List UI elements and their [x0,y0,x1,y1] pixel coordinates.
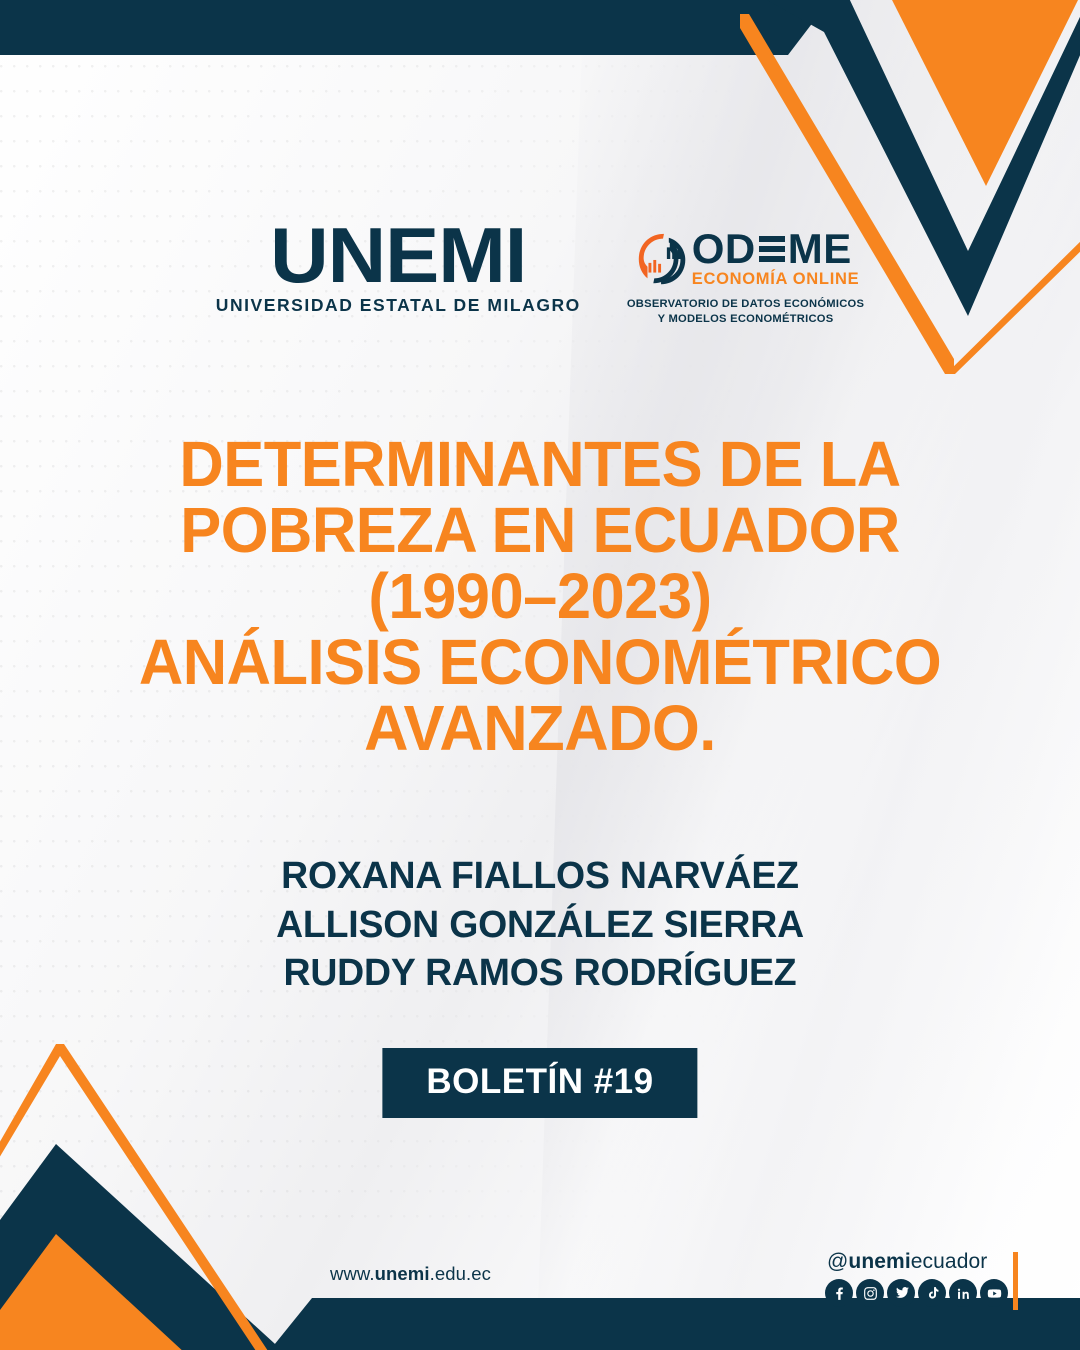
social-orange-rule [1013,1252,1018,1310]
instagram-icon[interactable] [856,1279,884,1307]
social-block: @unemiecuador [825,1251,1008,1307]
odeme-description: OBSERVATORIO DE DATOS ECONÓMICOS Y MODEL… [627,297,864,327]
odeme-circle-mark-icon [632,228,694,290]
social-handle: @unemiecuador [825,1251,987,1272]
facebook-icon[interactable] [825,1279,853,1307]
odeme-description-line2: Y MODELOS ECONOMÉTRICOS [627,312,864,327]
odeme-wordmark-block: O D ME ECONOMÍA ONLINE [692,229,860,289]
odeme-lockup: O D ME ECONOMÍA ONLINE [632,228,860,290]
tiktok-icon[interactable] [918,1279,946,1307]
odeme-wordmark-part3: ME [788,229,852,269]
odeme-tagline: ECONOMÍA ONLINE [692,270,860,289]
website-suffix: .edu.ec [430,1263,491,1284]
title-line-1: DETERMINANTES DE LA [79,432,1001,498]
odeme-description-line1: OBSERVATORIO DE DATOS ECONÓMICOS [627,297,864,312]
title-line-5: AVANZADO. [79,696,1001,762]
poster-canvas: UNEMI UNIVERSIDAD ESTATAL DE MILAGRO [0,0,1080,1350]
title-line-4: ANÁLISIS ECONOMÉTRICO [79,630,1001,696]
youtube-icon[interactable] [980,1279,1008,1307]
website-prefix: www. [330,1263,375,1284]
odeme-equals-e-icon [759,234,785,264]
logo-row: UNEMI UNIVERSIDAD ESTATAL DE MILAGRO [0,222,1080,327]
title-line-2: POBREZA EN ECUADOR [79,498,1001,564]
odeme-wordmark-part2: D [725,229,756,269]
unemi-wordmark: UNEMI [270,222,526,289]
handle-suffix: ecuador [911,1250,988,1273]
page-title: DETERMINANTES DE LA POBREZA EN ECUADOR (… [79,432,1001,762]
bulletin-badge: BOLETÍN #19 [382,1048,697,1118]
twitter-icon[interactable] [887,1279,915,1307]
website-url: www.unemi.edu.ec [330,1263,491,1285]
handle-bold: unemi [848,1250,910,1273]
unemi-logo: UNEMI UNIVERSIDAD ESTATAL DE MILAGRO [216,222,581,316]
author-3: RUDDY RAMOS RODRÍGUEZ [67,949,1013,998]
author-1: ROXANA FIALLOS NARVÁEZ [67,852,1013,901]
top-navy-bar [0,0,830,55]
linkedin-icon[interactable] [949,1279,977,1307]
odeme-logo: O D ME ECONOMÍA ONLINE OBSERVATORIO DE D… [627,222,864,327]
website-bold: unemi [375,1263,430,1284]
odeme-wordmark-part1: O [692,229,725,269]
author-2: ALLISON GONZÁLEZ SIERRA [67,901,1013,950]
odeme-wordmark: O D ME [692,229,852,269]
author-list: ROXANA FIALLOS NARVÁEZ ALLISON GONZÁLEZ … [67,852,1013,998]
title-line-3: (1990–2023) [79,564,1001,630]
social-icon-row [825,1279,1008,1307]
handle-prefix: @ [827,1250,848,1273]
